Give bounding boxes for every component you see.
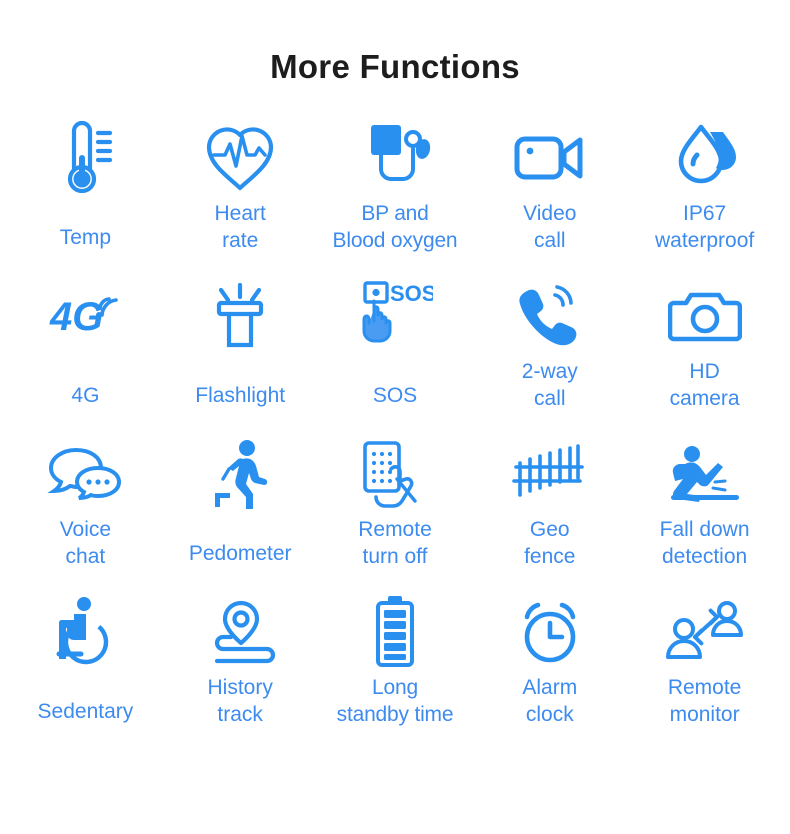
flashlight-icon <box>207 275 273 357</box>
feature-tile-pedometer[interactable]: Pedometer <box>163 429 318 587</box>
feature-label: IP67 waterproof <box>655 201 754 255</box>
heart-pulse-icon <box>203 117 277 199</box>
feature-grid: Temp Heart rate <box>0 113 790 745</box>
feature-label: Remote monitor <box>668 675 742 729</box>
fence-icon <box>512 433 588 515</box>
feature-label: BP and Blood oxygen <box>333 201 458 255</box>
feature-tile-two-way-call[interactable]: 2-way call <box>472 271 627 429</box>
hand-keypad-icon <box>357 433 433 515</box>
feature-tile-video-call[interactable]: Video call <box>472 113 627 271</box>
feature-label: HD camera <box>670 359 740 413</box>
feature-label: Temp <box>60 225 111 252</box>
feature-tile-remote-turn-off[interactable]: Remote turn off <box>318 429 473 587</box>
battery-icon <box>371 591 419 673</box>
sos-hand-icon: SOS <box>357 275 433 357</box>
feature-tile-fall-detection[interactable]: Fall down detection <box>627 429 782 587</box>
feature-label: 2-way call <box>522 359 578 413</box>
4g-signal-icon: 4G <box>48 275 122 357</box>
svg-text:SOS: SOS <box>390 281 433 306</box>
feature-label: Heart rate <box>215 201 266 255</box>
feature-tile-voice-chat[interactable]: Voice chat <box>8 429 163 587</box>
feature-label: Sedentary <box>38 699 134 726</box>
feature-label: History track <box>208 675 273 729</box>
feature-tile-sos[interactable]: SOS SOS <box>318 271 473 429</box>
phone-call-icon <box>515 275 585 357</box>
feature-tile-hd-camera[interactable]: HD camera <box>627 271 782 429</box>
feature-label: Flashlight <box>195 383 285 410</box>
feature-tile-history-track[interactable]: History track <box>163 587 318 745</box>
feature-tile-geo-fence[interactable]: Geo fence <box>472 429 627 587</box>
feature-label: SOS <box>373 383 417 410</box>
feature-tile-4g[interactable]: 4G 4G <box>8 271 163 429</box>
feature-label: Geo fence <box>524 517 575 571</box>
feature-label: Pedometer <box>189 541 292 568</box>
walking-person-icon <box>207 433 273 515</box>
falling-person-icon <box>665 433 745 515</box>
feature-tile-flashlight[interactable]: Flashlight <box>163 271 318 429</box>
feature-tile-remote-monitor[interactable]: Remote monitor <box>627 587 782 745</box>
feature-label: Voice chat <box>60 517 111 571</box>
video-camera-icon <box>512 117 588 199</box>
alarm-clock-icon <box>515 591 585 673</box>
speech-bubbles-icon <box>46 433 124 515</box>
feature-label: Video call <box>523 201 576 255</box>
feature-label: Alarm clock <box>522 675 577 729</box>
feature-label: Long standby time <box>337 675 454 729</box>
feature-tile-heart-rate[interactable]: Heart rate <box>163 113 318 271</box>
feature-label: Remote turn off <box>358 517 432 571</box>
more-functions-page: More Functions Temp <box>0 0 790 834</box>
blood-pressure-icon <box>357 117 433 199</box>
thermometer-icon <box>54 117 116 199</box>
camera-icon <box>668 275 742 357</box>
feature-tile-bp-blood-oxygen[interactable]: BP and Blood oxygen <box>318 113 473 271</box>
feature-label: 4G <box>71 383 99 410</box>
feature-tile-sedentary[interactable]: Sedentary <box>8 587 163 745</box>
page-title: More Functions <box>0 0 790 83</box>
feature-tile-temp[interactable]: Temp <box>8 113 163 271</box>
water-drop-icon <box>669 117 741 199</box>
feature-tile-alarm-clock[interactable]: Alarm clock <box>472 587 627 745</box>
feature-tile-ip67-waterproof[interactable]: IP67 waterproof <box>627 113 782 271</box>
map-pin-route-icon <box>201 591 279 673</box>
feature-label: Fall down detection <box>660 517 750 571</box>
wheelchair-icon <box>50 591 120 673</box>
svg-text:4G: 4G <box>49 295 103 339</box>
two-people-arrow-icon <box>665 591 745 673</box>
feature-tile-long-standby[interactable]: Long standby time <box>318 587 473 745</box>
